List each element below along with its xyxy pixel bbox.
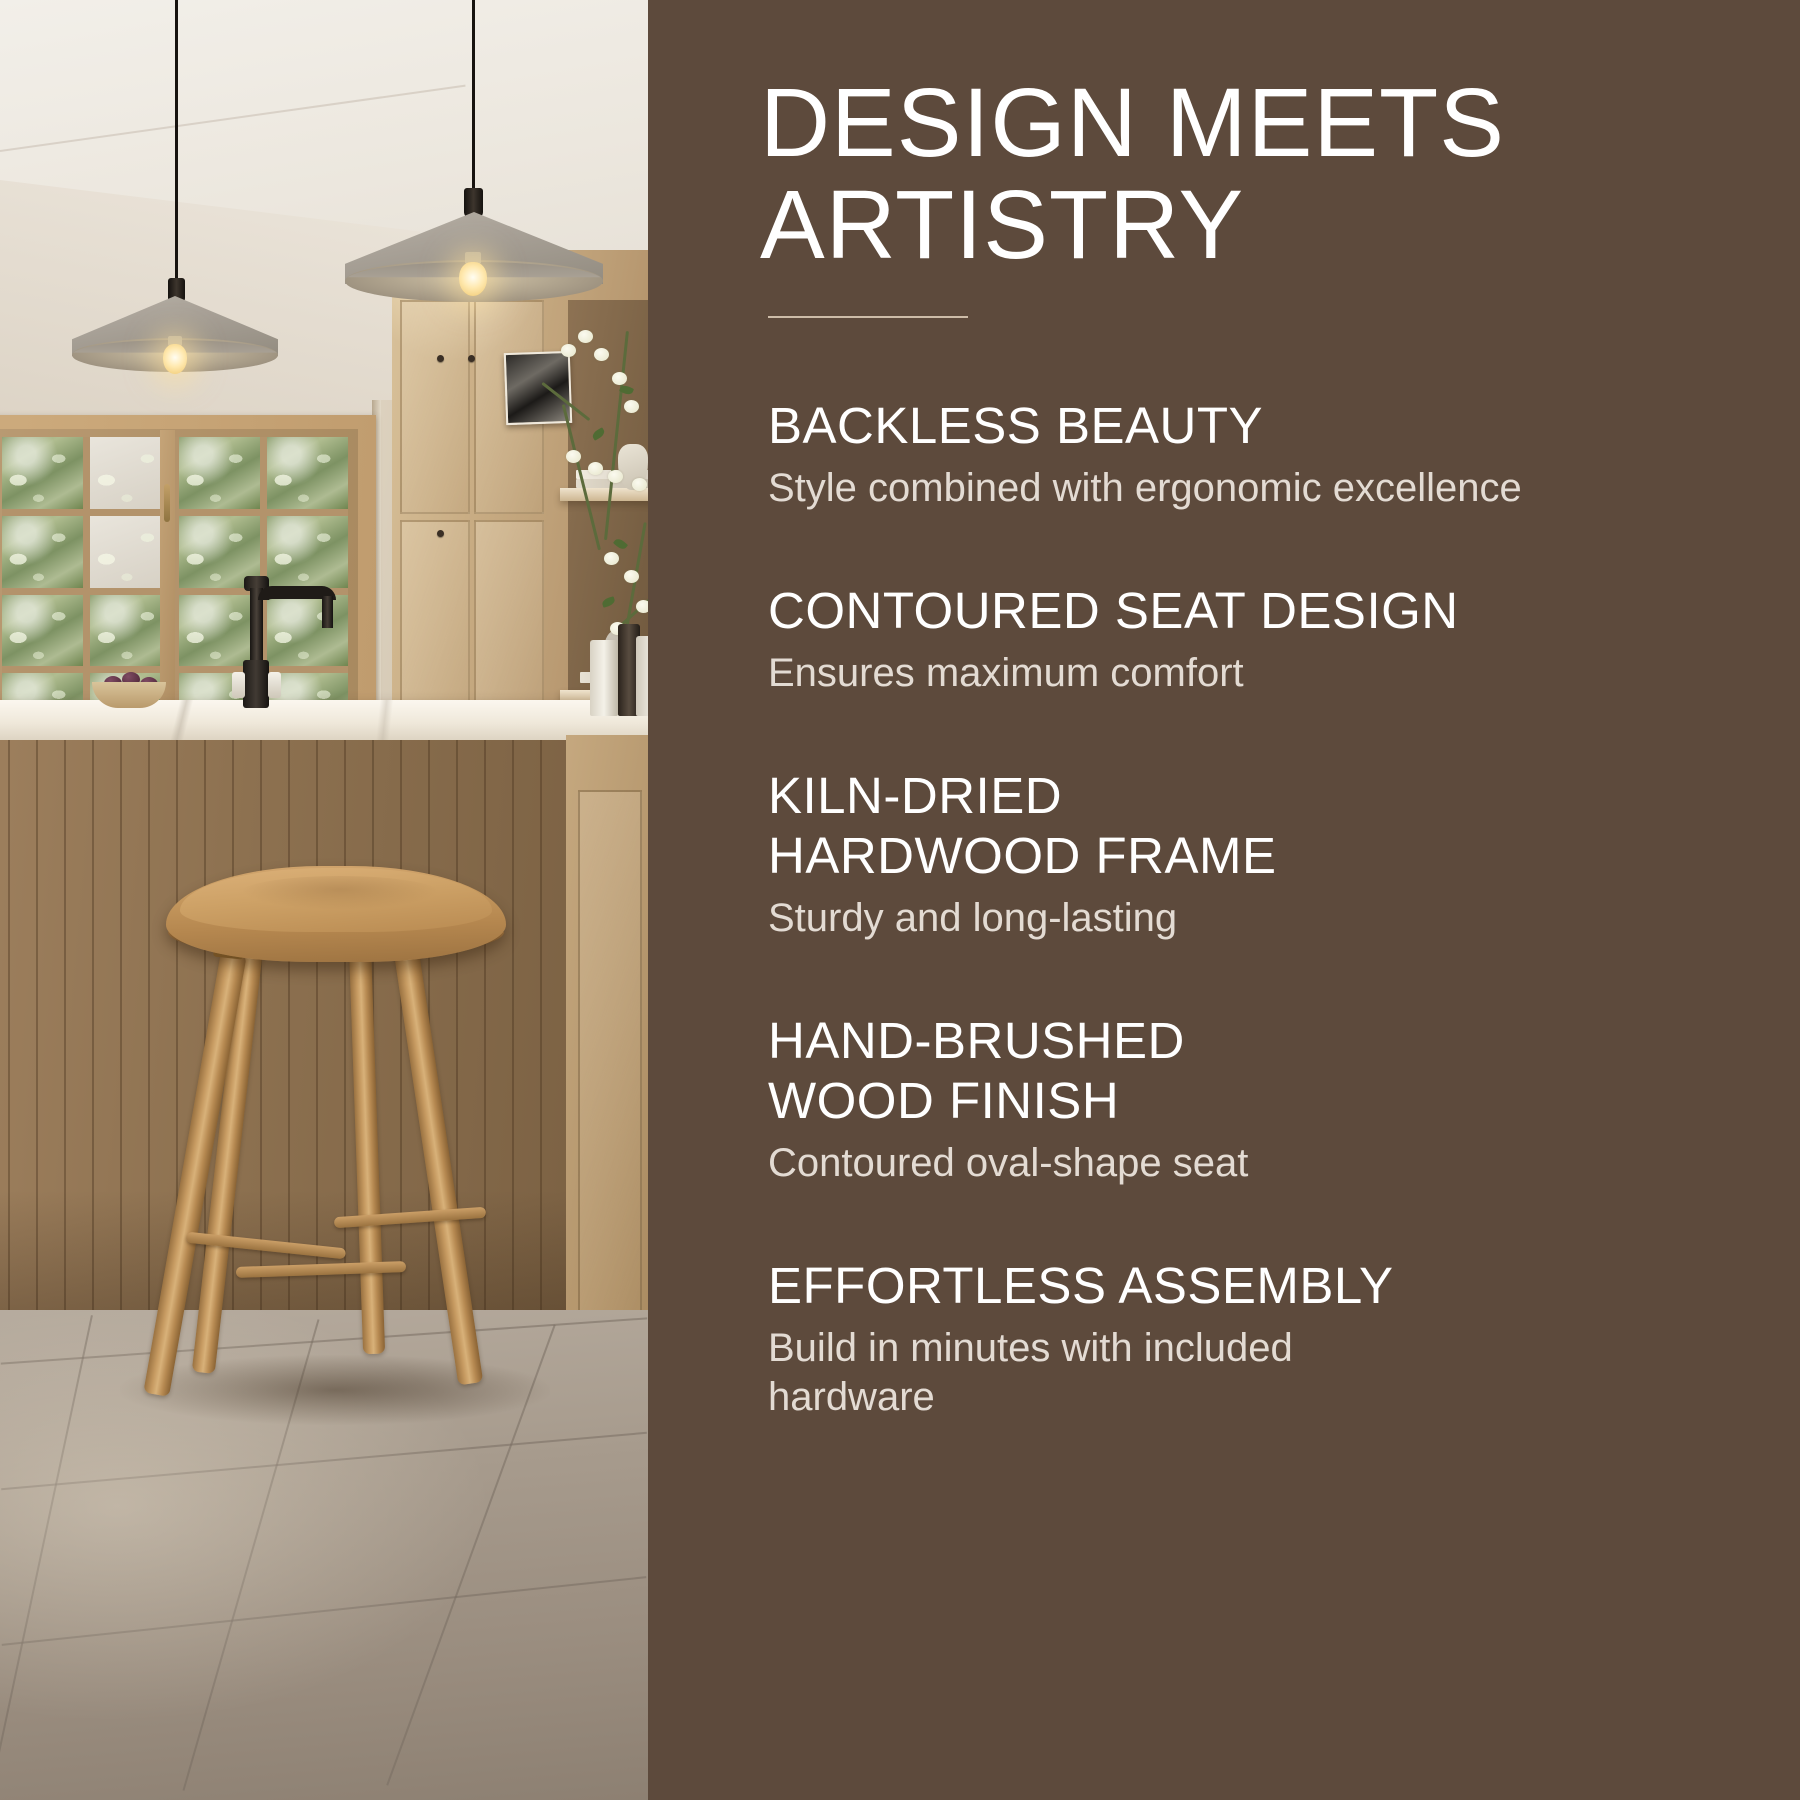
door-handle[interactable] [164,484,170,522]
faucet-handle-left[interactable] [232,672,245,698]
blossom [594,348,609,361]
pendant-bulb-right [459,262,487,296]
blossom [561,344,576,357]
stool-seat-contour [240,876,440,910]
french-door-frame [0,415,376,745]
stool-stretcher-right [334,1207,486,1229]
window-pane [267,437,348,509]
framed-artwork [504,351,572,425]
cabinet-knob[interactable] [437,530,444,537]
blossom [578,330,593,343]
feature-title: EFFORTLESS ASSEMBLY [768,1256,1730,1316]
blossom [566,450,581,463]
blossom [608,470,623,483]
cabinet-door-panel [400,300,470,514]
cabinet-knob[interactable] [468,355,475,362]
island-side-inset [578,790,642,1354]
feature-item-effortless-assembly: EFFORTLESS ASSEMBLY Build in minutes wit… [760,1256,1730,1422]
window-pane [179,437,260,509]
title-divider [768,316,968,318]
feature-item-kiln-dried-hardwood-frame: KILN-DRIED HARDWOOD FRAME Sturdy and lon… [760,766,1730,943]
wooden-bar-stool [120,860,540,1390]
cabinet-knob[interactable] [437,355,444,362]
blossom [624,570,639,583]
feature-subtitle: Contoured oval-shape seat [768,1139,1608,1188]
feature-title: KILN-DRIED HARDWOOD FRAME [768,766,1388,886]
blossom [636,600,648,613]
blossom [604,552,619,565]
feature-item-hand-brushed-wood-finish: HAND-BRUSHED WOOD FINISH Contoured oval-… [760,1011,1730,1188]
window-pane [267,516,348,588]
feature-title: HAND-BRUSHED WOOD FINISH [768,1011,1328,1131]
stool-leg-back-right [349,944,385,1355]
feature-subtitle: Ensures maximum comfort [768,649,1608,698]
blossom [624,400,639,413]
pendant-cord-left [175,0,178,286]
window-pane [179,595,260,667]
faucet-spout-drop [322,596,333,628]
page-title: DESIGN MEETS ARTISTRY [760,72,1730,276]
marketing-banner: DESIGN MEETS ARTISTRY BACKLESS BEAUTY St… [0,0,1800,1800]
feature-item-contoured-seat-design: CONTOURED SEAT DESIGN Ensures maximum co… [760,581,1730,698]
window-pane [2,437,83,509]
feature-subtitle: Build in minutes with included hardware [768,1324,1428,1422]
feature-subtitle: Sturdy and long-lasting [768,894,1608,943]
faucet-handle-right[interactable] [268,672,281,698]
feature-text-panel: DESIGN MEETS ARTISTRY BACKLESS BEAUTY St… [648,0,1800,1800]
feature-title: CONTOURED SEAT DESIGN [768,581,1730,641]
salt-grinder [636,636,648,716]
pendant-bulb-left [163,344,187,374]
headline-line-1: DESIGN MEETS [760,68,1505,177]
window-pane [2,595,83,667]
glass-canister [590,640,618,716]
headline-line-2: ARTISTRY [760,170,1244,279]
feature-subtitle: Style combined with ergonomic excellence [768,464,1608,513]
stool-leg-front-right [394,949,483,1386]
blossom [588,462,603,475]
feature-title: BACKLESS BEAUTY [768,396,1730,456]
window-pane [267,595,348,667]
window-pane [2,516,83,588]
blossom [632,478,647,491]
feature-list: BACKLESS BEAUTY Style combined with ergo… [760,396,1730,1422]
faucet-column [250,588,263,668]
product-lifestyle-photo [0,0,648,1800]
feature-item-backless-beauty: BACKLESS BEAUTY Style combined with ergo… [760,396,1730,513]
blossom [612,372,627,385]
faucet-base [243,660,269,708]
marble-countertop [0,700,648,742]
pendant-cord-right [472,0,475,195]
